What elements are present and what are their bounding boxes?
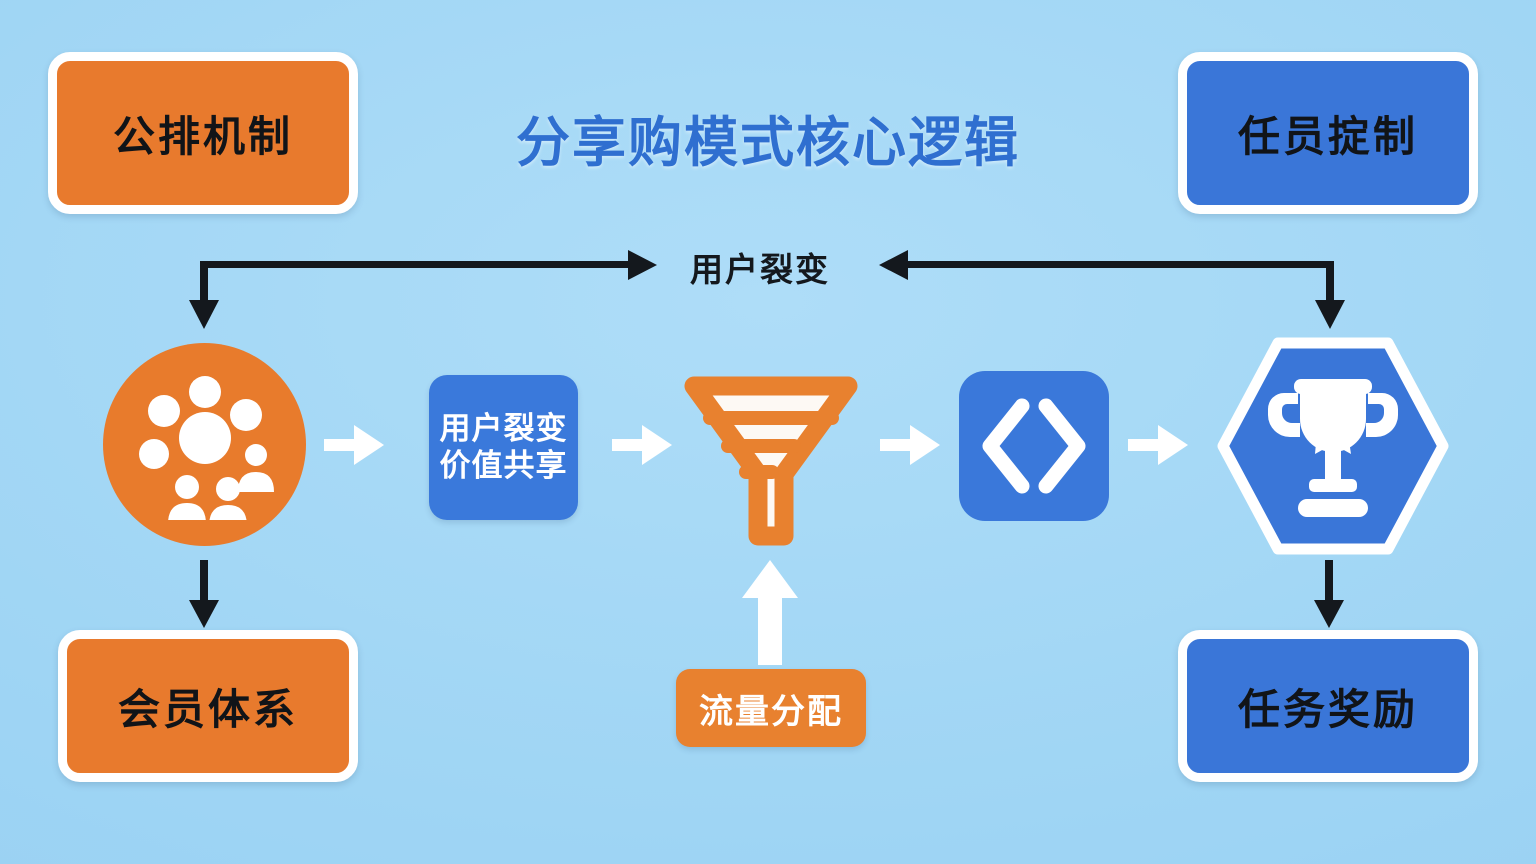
- trophy-icon: [1210, 333, 1456, 559]
- box-label: 公排机制: [113, 103, 293, 164]
- flow-arrow-right-icon: [612, 421, 672, 469]
- box-label: 会员体系: [118, 676, 298, 737]
- box-gongpai-jizhi[interactable]: 公排机制: [48, 52, 358, 214]
- flow-arrow-right-icon: [1128, 421, 1188, 469]
- box-renwu-jiangli[interactable]: 任务奖励: [1178, 630, 1478, 782]
- node-people-network[interactable]: [103, 343, 306, 546]
- box-label: 任员掟制: [1238, 103, 1418, 164]
- flow-arrow-right-icon: [880, 421, 940, 469]
- flow-arrow-up-icon: [742, 560, 798, 665]
- node-trophy-hexagon[interactable]: [1210, 333, 1456, 559]
- arrowhead-down-icon: [189, 300, 219, 329]
- chip-label: 流量分配: [699, 684, 843, 733]
- chip-line-1: 用户裂变: [440, 411, 568, 448]
- chip-traffic-allocation[interactable]: 流量分配: [676, 669, 866, 747]
- box-label: 任务奖励: [1238, 676, 1418, 737]
- diagram-canvas: 分享购模式核心逻辑 公排机制 任员掟制 会员体系 任务奖励 用户裂变: [0, 0, 1536, 864]
- flow-arrow-right-icon: [324, 421, 384, 469]
- arrowhead-right-icon: [628, 250, 657, 280]
- node-value-share-chip[interactable]: 用户裂变 价值共享: [429, 375, 578, 520]
- connector-left-loop-horizontal: [203, 261, 643, 268]
- box-renyuan-kongzhi[interactable]: 任员掟制: [1178, 52, 1478, 214]
- code-brackets-icon: [978, 398, 1090, 494]
- arrowhead-down-icon: [189, 600, 219, 628]
- funnel-icon: [676, 368, 866, 554]
- node-funnel[interactable]: [676, 368, 866, 554]
- arrowhead-left-icon: [879, 250, 908, 280]
- chip-line-2: 价值共享: [440, 448, 568, 485]
- box-huiyuan-tixi[interactable]: 会员体系: [58, 630, 358, 782]
- label-user-fission: 用户裂变: [690, 243, 830, 291]
- connector-right-loop-horizontal: [893, 261, 1333, 268]
- node-code-brackets[interactable]: [959, 371, 1109, 521]
- arrowhead-down-icon: [1315, 300, 1345, 329]
- people-network-icon: [130, 370, 280, 520]
- arrowhead-down-icon: [1314, 600, 1344, 628]
